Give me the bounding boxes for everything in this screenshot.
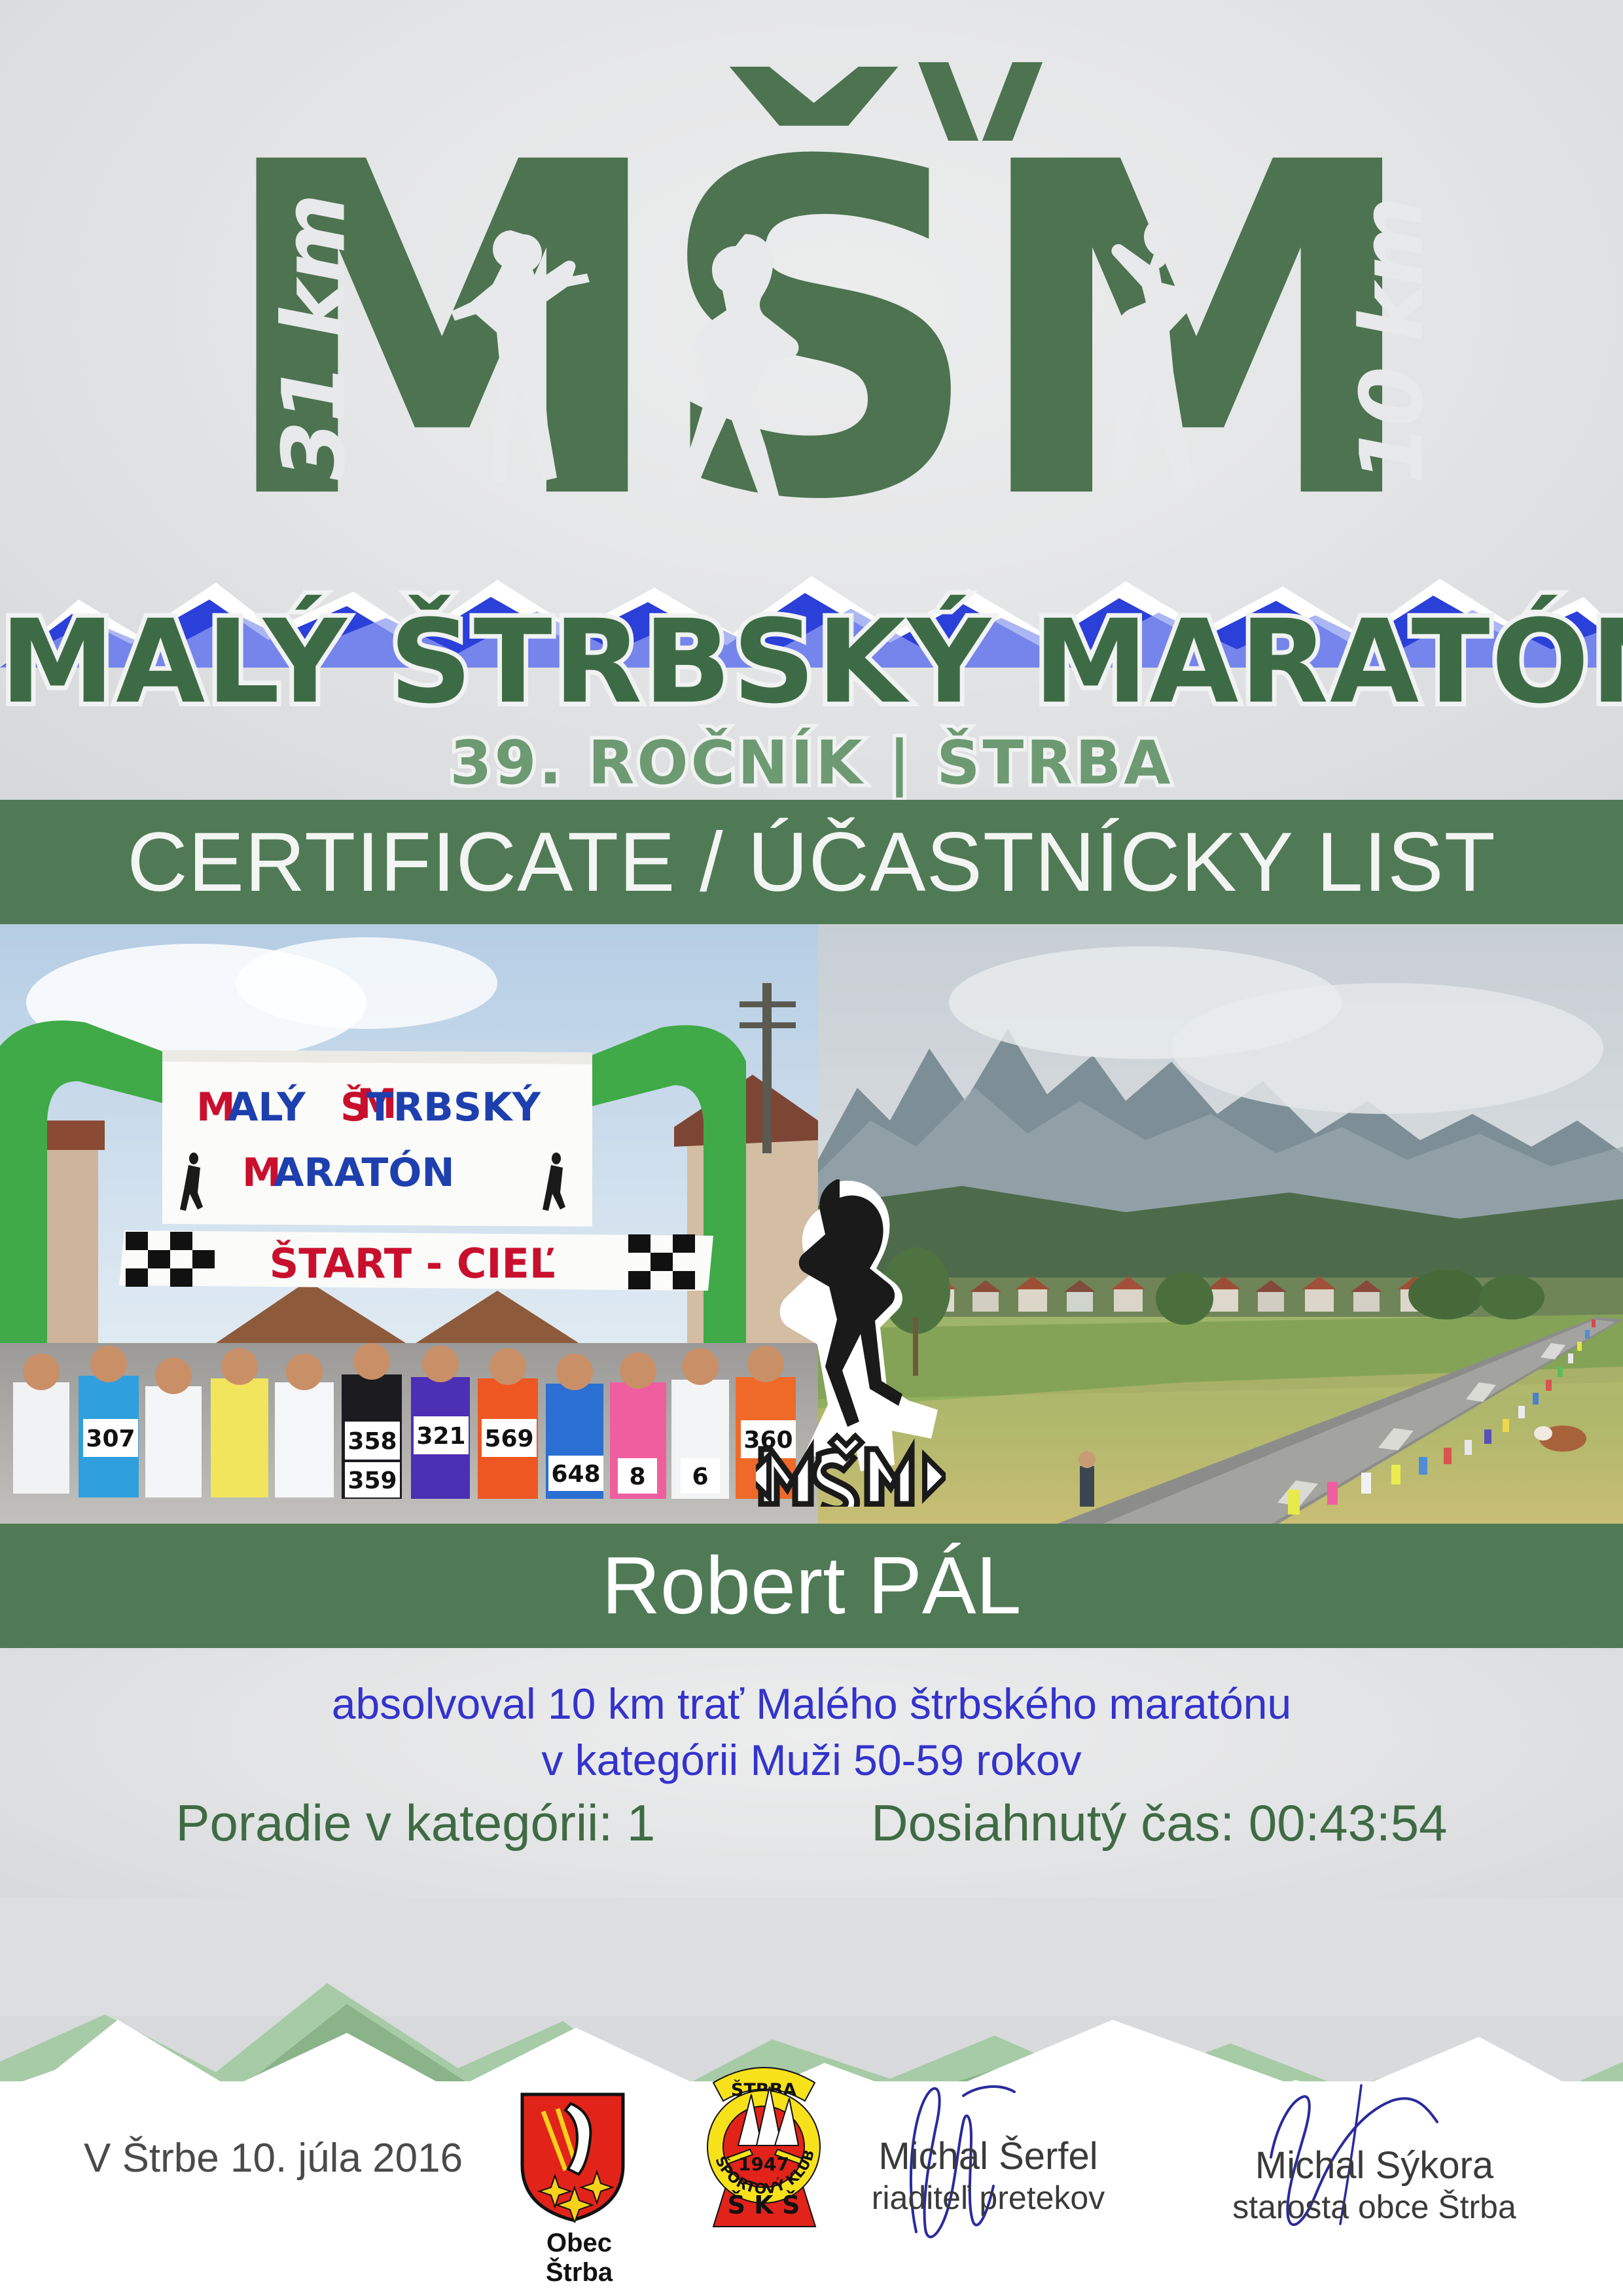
signature-block-mayor: Michal Sýkora starosta obce Štrba <box>1224 2144 1525 2227</box>
runner-silhouette-center-icon <box>635 223 851 550</box>
svg-text:569: 569 <box>484 1426 533 1452</box>
svg-text:6: 6 <box>692 1463 708 1490</box>
svg-text:648: 648 <box>551 1461 600 1488</box>
certificate-page: MŠM 31 km 10 km MALÝ Š <box>0 0 1623 2296</box>
svg-text:359: 359 <box>348 1467 397 1494</box>
svg-text:Š: Š <box>340 1084 368 1130</box>
results-row: Poradie v kategórii: 1 Dosiahnutý čas: 0… <box>0 1793 1623 1853</box>
mayor-role: starosta obce Štrba <box>1224 2187 1525 2227</box>
header-panel: MŠM 31 km 10 km MALÝ Š <box>0 0 1623 802</box>
photo-strip: M MALÝ ŠTRBSKÝ MARATÓN <box>0 924 1623 1525</box>
certificate-heading-bar: CERTIFICATE / ÚČASTNÍCKY LIST <box>0 800 1623 924</box>
msm-runner-emblem-icon <box>756 1179 946 1507</box>
svg-text:ALÝ: ALÝ <box>228 1083 306 1130</box>
svg-text:307: 307 <box>86 1426 135 1452</box>
place-and-date: V Štrbe 10. júla 2016 <box>84 2135 463 2181</box>
mayor-name: Michal Sýkora <box>1224 2144 1525 2187</box>
svg-text:358: 358 <box>348 1428 397 1455</box>
runner-silhouette-left-icon <box>425 216 622 530</box>
svg-text:TRBSKÝ: TRBSKÝ <box>366 1083 542 1130</box>
crest-sks-strba: ŠTRBA 1947 ŠPORTOVÝ KLUB Š K Š <box>694 2049 838 2248</box>
msm-logo: MŠM 31 km 10 km <box>0 26 1623 576</box>
finish-time: Dosiahnutý čas: 00:43:54 <box>871 1793 1447 1853</box>
club-year-label: 1947 <box>738 2153 789 2175</box>
participant-name-bar: Robert PÁL <box>0 1524 1623 1648</box>
category-rank: Poradie v kategórii: 1 <box>176 1793 656 1853</box>
event-title: MALÝ ŠTRBSKÝ MARATÓN <box>0 602 1623 723</box>
event-subtitle: 39. ROČNÍK | ŠTRBA <box>0 732 1623 795</box>
certificate-heading: CERTIFICATE / ÚČASTNÍCKY LIST <box>127 814 1496 910</box>
svg-text:ŠTART - CIEĽ: ŠTART - CIEĽ <box>270 1240 556 1287</box>
distance-10km-label: 10 km <box>1342 200 1442 484</box>
runner-silhouette-right-icon <box>1047 209 1237 537</box>
participant-name: Robert PÁL <box>601 1539 1021 1632</box>
signature-block-director: Michal Šerfel riaditeľ pretekov <box>851 2135 1126 2217</box>
svg-text:ARATÓN: ARATÓN <box>274 1149 455 1196</box>
crest-obec-strba-caption: Obec Štrba <box>517 2229 641 2287</box>
svg-text:321: 321 <box>416 1423 465 1450</box>
svg-text:8: 8 <box>629 1463 645 1490</box>
achievement-line-2: v kategórii Muži 50-59 rokov <box>0 1732 1623 1788</box>
director-name: Michal Šerfel <box>851 2135 1126 2178</box>
director-role: riaditeľ pretekov <box>851 2178 1126 2217</box>
photo-race-start: M MALÝ ŠTRBSKÝ MARATÓN <box>0 924 818 1525</box>
event-title-block: MALÝ ŠTRBSKÝ MARATÓN 39. ROČNÍK | ŠTRBA <box>0 602 1623 795</box>
crest-obec-strba: Obec Štrba <box>517 2092 641 2287</box>
distance-31km-label: 31 km <box>264 196 365 481</box>
achievement-description: absolvoval 10 km trať Malého štrbského m… <box>0 1676 1623 1788</box>
club-initials-label: Š K Š <box>728 2191 800 2219</box>
achievement-line-1: absolvoval 10 km trať Malého štrbského m… <box>0 1676 1623 1732</box>
